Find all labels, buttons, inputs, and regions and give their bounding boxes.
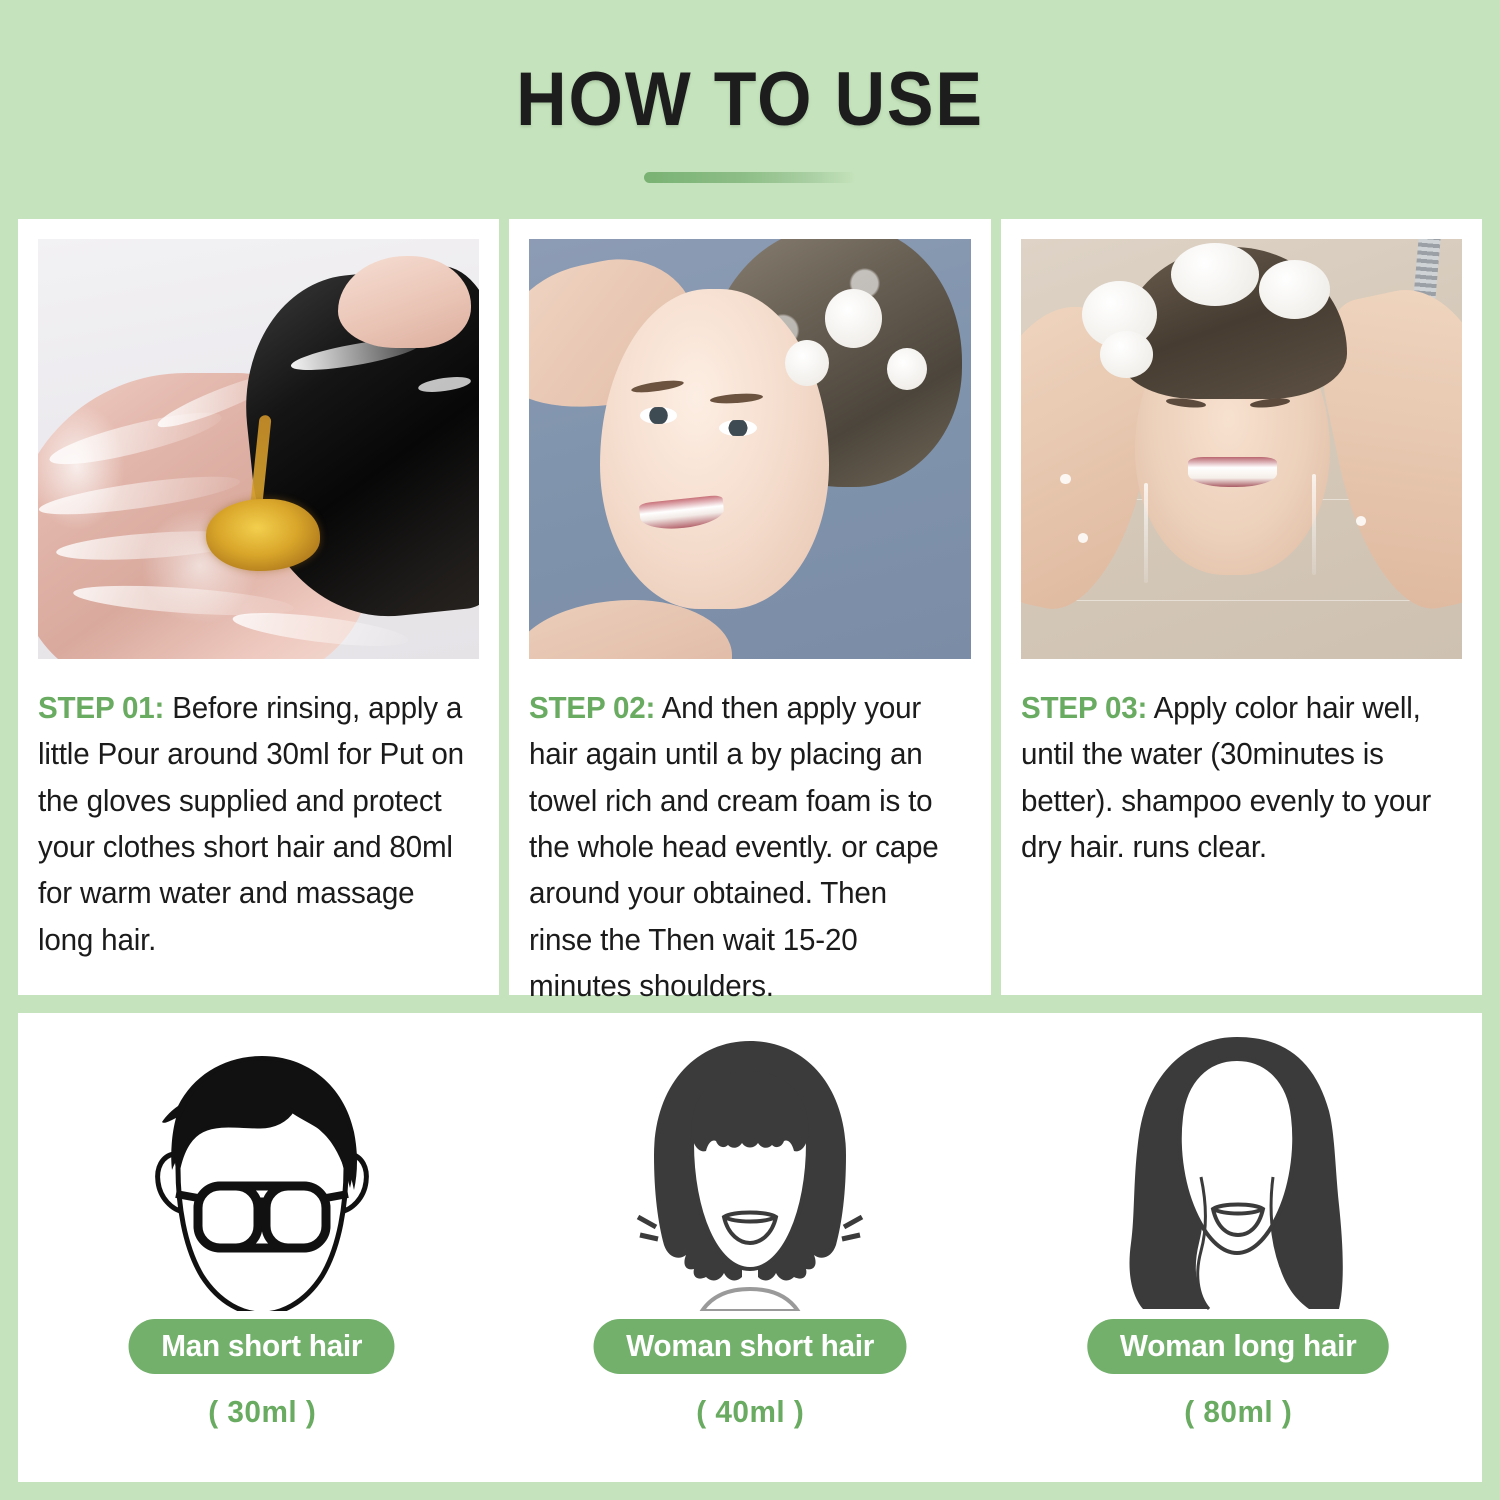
steps-row: STEP 01: Before rinsing, apply a little … (18, 219, 1482, 995)
title-divider (644, 172, 856, 183)
step-description-03: STEP 03: Apply color hair well, until th… (1021, 685, 1449, 870)
step-label-02: STEP 02: (529, 691, 655, 725)
step-label-01: STEP 01: (38, 691, 164, 725)
eye-shape (640, 407, 678, 424)
hair-type-woman-short: Woman short hair ( 40ml ) (506, 1013, 994, 1482)
dosage-panel: Man short hair ( 30ml ) Woman short hair… (18, 1013, 1482, 1482)
header: HOW TO USE (0, 0, 1500, 183)
hair-type-man-short: Man short hair ( 30ml ) (18, 1013, 506, 1482)
face-shape (600, 289, 829, 608)
foam-blob (1100, 331, 1153, 377)
eye-shape (719, 420, 757, 437)
woman-lathering-hair-photo (529, 239, 970, 659)
hair-type-label-woman-short: Woman short hair (593, 1319, 906, 1374)
man-short-hair-icon-box (132, 1031, 392, 1311)
water-drop (1060, 474, 1070, 484)
foam-blob (887, 348, 927, 390)
pouring-oil-onto-gloved-hand-photo (38, 239, 479, 659)
step-card-01: STEP 01: Before rinsing, apply a little … (18, 219, 499, 995)
step-card-03: STEP 03: Apply color hair well, until th… (1001, 219, 1482, 995)
hair-type-label-woman-long: Woman long hair (1087, 1319, 1389, 1374)
smiling-mouth-shape (1188, 457, 1276, 486)
how-to-use-infographic: HOW TO USE STEP (0, 0, 1500, 1500)
woman-short-hair-icon-box (624, 1031, 876, 1311)
hair-type-volume-woman-short: ( 40ml ) (696, 1394, 804, 1430)
thumb-shape (338, 256, 470, 348)
water-drop (1078, 533, 1088, 543)
man-short-hair-icon (132, 1036, 392, 1311)
water-drop (1356, 516, 1366, 526)
water-stream (1312, 474, 1316, 575)
shoulder-shape (529, 600, 732, 659)
woman-long-hair-icon (1113, 1029, 1363, 1311)
title-divider-wrapper (0, 172, 1500, 183)
hair-type-label-man-short: Man short hair (129, 1319, 395, 1374)
liquid-pool (206, 499, 321, 570)
hair-type-volume-man-short: ( 30ml ) (208, 1394, 316, 1430)
woman-short-hair-icon (624, 1031, 876, 1311)
woman-washing-hair-in-shower-photo (1021, 239, 1462, 659)
step-description-02: STEP 02: And then apply your hair again … (529, 685, 957, 1010)
step-label-03: STEP 03: (1021, 691, 1147, 725)
step-body-01: Before rinsing, apply a little Pour arou… (38, 691, 464, 957)
woman-long-hair-icon-box (1113, 1031, 1363, 1311)
step-card-02: STEP 02: And then apply your hair again … (509, 219, 990, 995)
page-title: HOW TO USE (60, 62, 1440, 138)
hair-type-volume-woman-long: ( 80ml ) (1184, 1394, 1292, 1430)
foam-blob (1259, 260, 1330, 319)
step-description-01: STEP 01: Before rinsing, apply a little … (38, 685, 466, 963)
tile-line (1021, 600, 1462, 601)
water-stream (1144, 483, 1148, 584)
foam-blob (1171, 243, 1259, 306)
step-body-02: And then apply your hair again until a b… (529, 691, 939, 1003)
hair-type-woman-long: Woman long hair ( 80ml ) (994, 1013, 1482, 1482)
